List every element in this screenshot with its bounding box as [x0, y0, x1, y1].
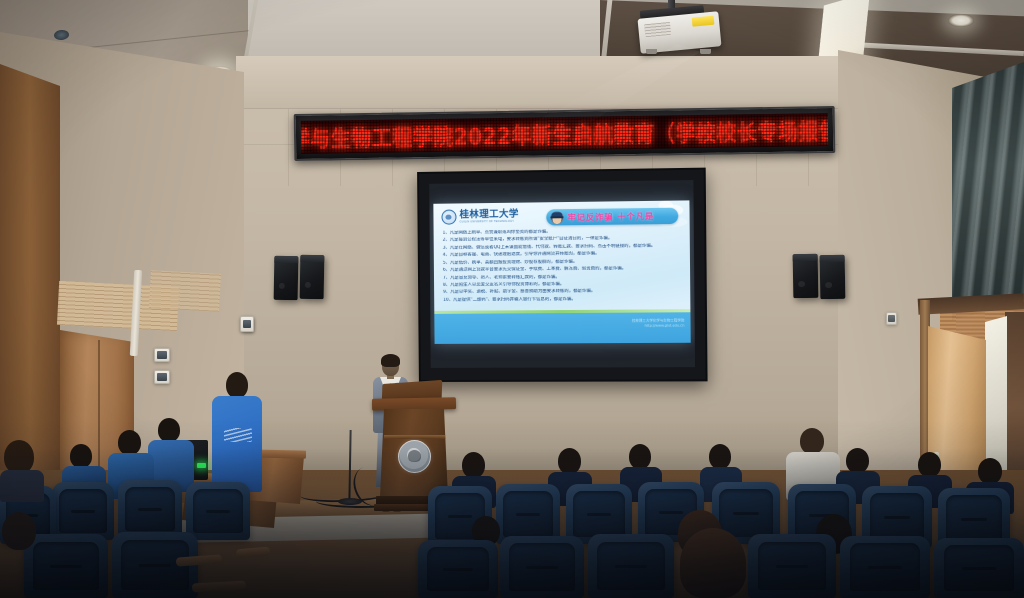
person-head — [629, 444, 651, 469]
slide-banner-text: 牢记反诈骗 十个凡是 — [568, 211, 655, 223]
wall-speaker-left-a — [274, 256, 299, 300]
left-wall-blind — [149, 270, 221, 312]
auditorium-seat[interactable] — [934, 538, 1024, 598]
police-officer-icon — [550, 211, 563, 224]
lecture-hall-photo: 化学与生物工程学院2022年新生启航教育（学校校长专场报告） 桂林理工大学 — [0, 0, 1024, 598]
seat-cushion — [870, 493, 925, 540]
person-head — [846, 448, 869, 473]
university-crest-icon — [398, 440, 431, 473]
lectern-top — [372, 397, 456, 410]
auditorium-seat[interactable] — [186, 482, 250, 540]
seat-cushion — [850, 543, 920, 590]
person-head — [158, 418, 180, 442]
speaker-top — [274, 256, 298, 263]
wall-speaker-left-b — [300, 255, 325, 299]
auditorium-seat[interactable] — [840, 536, 930, 598]
auditorium-seat[interactable] — [588, 534, 674, 598]
proscenium-band — [236, 56, 840, 109]
speaker-top — [300, 255, 324, 262]
speaker-top — [820, 255, 845, 262]
slide-footer-band: 桂林理工大学化学与生物工程学院 http://www.glut.edu.cn — [434, 312, 690, 344]
slide-line: 8、凡是陌生人以恋爱交友名义引导你投资博彩的，都是诈骗。 — [443, 281, 682, 289]
slide-footer-line-2: http://www.glut.edu.cn — [632, 324, 684, 329]
seat-slot — [587, 513, 612, 516]
auditorium-seat[interactable] — [500, 536, 584, 598]
led-banner-text: 化学与生物工程学院2022年新生启航教育（学校校长专场报告） — [301, 113, 828, 154]
led-banner-screen: 化学与生物工程学院2022年新生启航教育（学校校长专场报告） — [301, 113, 828, 154]
seat-slot — [139, 564, 171, 568]
seat-slot — [526, 566, 557, 569]
seat-slot — [50, 565, 81, 568]
speaker-top — [793, 254, 818, 261]
auditorium-seat[interactable] — [118, 480, 182, 538]
projector-foot — [646, 49, 657, 54]
seat-cushion — [946, 495, 1002, 542]
microphone-stand-base — [338, 498, 362, 505]
audience-member-foreground — [0, 440, 44, 502]
person-hair — [680, 528, 746, 598]
volunteer-standing — [208, 372, 266, 492]
right-wall-fixture[interactable] — [886, 312, 897, 325]
slide-university-name-en: GUILIN UNIVERSITY OF TECHNOLOGY — [460, 220, 519, 223]
seat-cushion — [509, 543, 575, 590]
wall-speaker-right-a — [793, 254, 819, 298]
seat-slot — [138, 508, 162, 511]
person-head — [70, 444, 92, 468]
slide-university-logo: 桂林理工大学 GUILIN UNIVERSITY OF TECHNOLOGY — [441, 209, 518, 225]
slide-line: 10、凡是提供"二维码"、要求扫码并输入银行卡信息的，都是诈骗。 — [443, 296, 682, 304]
slide-line: 9、凡是以中奖、退税、补贴、助学金、慈善捐助为由要求转账的，都是诈骗。 — [443, 288, 682, 296]
shirt-print — [224, 428, 252, 442]
projection-screen: 桂林理工大学 GUILIN UNIVERSITY OF TECHNOLOGY 牢… — [417, 168, 707, 382]
auditorium-seat[interactable] — [418, 540, 498, 598]
lectern-trim — [384, 435, 452, 439]
audience-member-foreground — [0, 512, 46, 598]
presentation-slide: 桂林理工大学 GUILIN UNIVERSITY OF TECHNOLOGY 牢… — [433, 200, 690, 344]
projector-foot — [700, 49, 711, 54]
seat-slot — [615, 565, 647, 568]
screen-surface: 桂林理工大学 GUILIN UNIVERSITY OF TECHNOLOGY 牢… — [429, 180, 695, 368]
window-curtain — [952, 62, 1024, 320]
seat-slot — [733, 512, 758, 515]
seat-slot — [206, 510, 230, 513]
seat-slot — [884, 516, 910, 519]
wall-speaker-right-b — [820, 255, 846, 299]
slide-university-name-cn: 桂林理工大学 — [459, 209, 518, 219]
person-torso-blue-shirt — [212, 396, 262, 492]
seat-slot — [516, 513, 540, 516]
seat-cushion — [193, 489, 243, 533]
auditorium-seat[interactable] — [52, 482, 114, 540]
seat-slot — [962, 567, 996, 570]
seat-cushion — [944, 545, 1014, 591]
projector-vent — [644, 22, 671, 37]
presenter-hair — [381, 354, 400, 367]
seat-cushion — [427, 547, 489, 591]
seat-slot — [961, 518, 988, 521]
projector-label — [692, 16, 715, 27]
seat-cushion — [573, 491, 624, 537]
person-head — [2, 512, 36, 550]
person-head — [4, 440, 34, 474]
university-seal-icon — [441, 210, 456, 225]
person-head — [226, 372, 248, 398]
seat-cushion — [597, 542, 664, 591]
person-head — [462, 452, 485, 478]
slide-title-banner: 牢记反诈骗 十个凡是 — [546, 208, 678, 226]
person-head — [558, 448, 581, 474]
slide-footer-text: 桂林理工大学化学与生物工程学院 http://www.glut.edu.cn — [632, 318, 684, 329]
downlight — [948, 14, 974, 27]
led-banner: 化学与生物工程学院2022年新生启航教育（学校校长专场报告） — [294, 106, 836, 161]
wall-control-panel[interactable] — [154, 348, 170, 362]
seat-slot — [71, 510, 94, 513]
person-head — [918, 452, 941, 477]
person-head — [800, 428, 824, 454]
seat-cushion — [125, 487, 175, 531]
slide-line: 7、凡是冒充领导、熟人、老师索要转账汇款的，都是诈骗。 — [443, 273, 682, 281]
wall-control-panel[interactable] — [154, 370, 170, 384]
person-head — [118, 430, 141, 455]
seat-slot — [776, 565, 809, 568]
seat-slot — [868, 566, 902, 569]
person-head — [709, 444, 731, 469]
slide-bullet-list: 1、凡是网络上刷单、点赞兼职或叫你垫资的都是诈骗。 2、凡是接到公检法等单位来电… — [443, 228, 682, 304]
equipment-status-led — [197, 463, 206, 468]
seat-slot — [443, 568, 473, 571]
seat-cushion — [758, 542, 827, 591]
person-head — [978, 458, 1002, 484]
audience-member-foreground — [672, 528, 756, 598]
person-torso — [0, 470, 44, 502]
left-wall-wood-trim — [0, 64, 60, 504]
seat-cushion — [59, 489, 107, 533]
auditorium-seat[interactable] — [748, 534, 836, 598]
right-wall-fixture[interactable] — [240, 316, 254, 332]
